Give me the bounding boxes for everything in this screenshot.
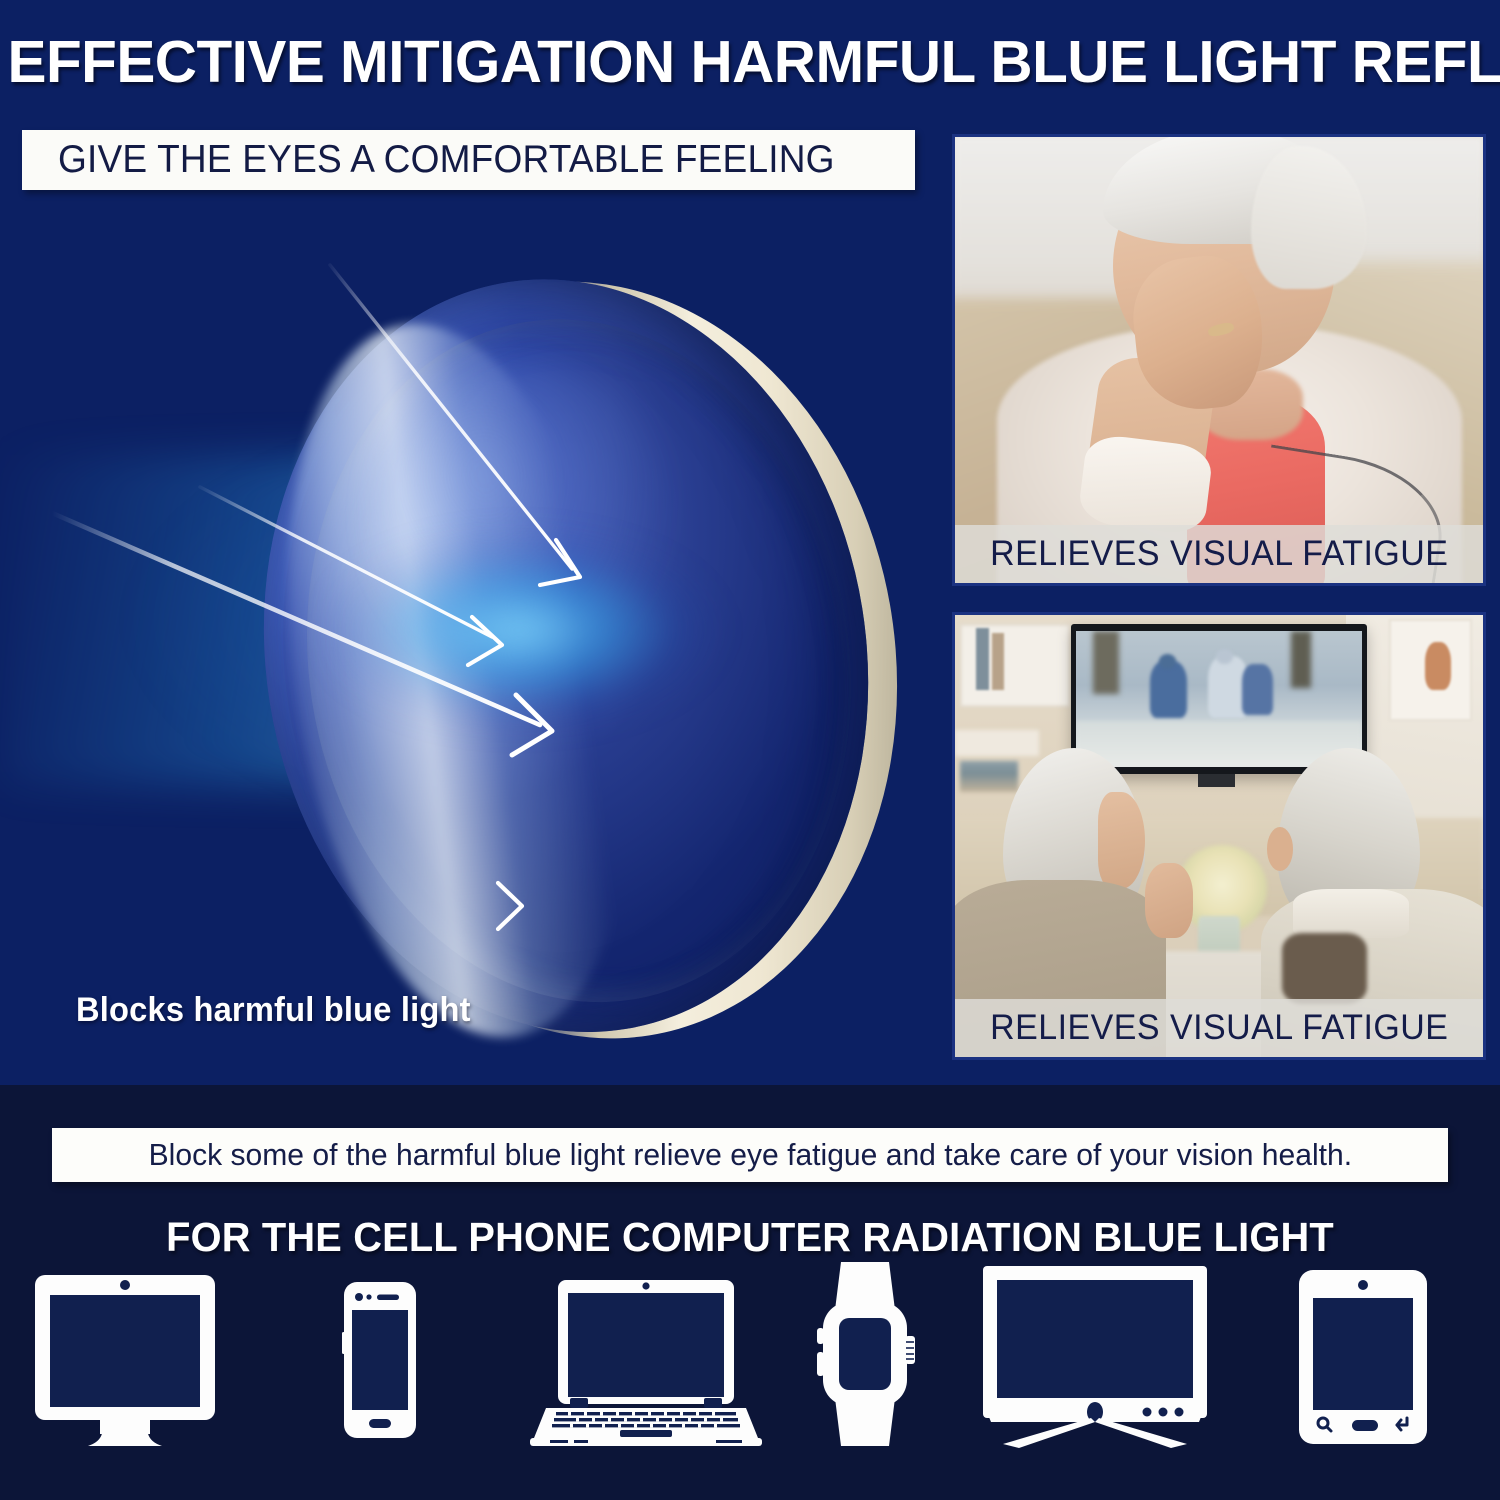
- photo-image-woman-rubbing-eyes: [955, 137, 1483, 583]
- photo-caption-text: RELIEVES VISUAL FATIGUE: [990, 534, 1448, 574]
- photo-card-fatigue-woman: RELIEVES VISUAL FATIGUE: [952, 134, 1486, 586]
- light-ray-1: [330, 265, 580, 585]
- laptop-icon: [530, 1276, 762, 1448]
- light-rays: [0, 225, 940, 1085]
- photo-caption-text: RELIEVES VISUAL FATIGUE: [990, 1008, 1448, 1048]
- subtitle-banner: GIVE THE EYES A COMFORTABLE FEELING: [22, 130, 915, 190]
- photo-caption-band: RELIEVES VISUAL FATIGUE: [955, 999, 1483, 1057]
- infographic-page: EFFECTIVE MITIGATION HARMFUL BLUE LIGHT …: [0, 0, 1500, 1500]
- photo-card-couple-tv: RELIEVES VISUAL FATIGUE: [952, 612, 1486, 1060]
- benefit-banner-text: Block some of the harmful blue light rel…: [148, 1137, 1351, 1173]
- lens-illustration: Blocks harmful blue light: [0, 225, 940, 1085]
- subtitle-text: GIVE THE EYES A COMFORTABLE FEELING: [58, 138, 835, 182]
- light-ray-3: [52, 513, 552, 755]
- smartwatch-icon: [805, 1258, 925, 1450]
- page-title: EFFECTIVE MITIGATION HARMFUL BLUE LIGHT …: [8, 28, 1493, 96]
- smartphone-icon: [340, 1280, 420, 1440]
- device-icon-row: [0, 1278, 1500, 1478]
- desktop-monitor-icon: [30, 1270, 220, 1450]
- devices-subhead: FOR THE CELL PHONE COMPUTER RADIATION BL…: [23, 1214, 1478, 1261]
- tablet-icon: [1295, 1268, 1431, 1446]
- lens-caption: Blocks harmful blue light: [76, 991, 471, 1030]
- light-ray-4: [140, 883, 522, 929]
- photo-image-couple-watching-tv: [955, 615, 1483, 1057]
- light-ray-2: [200, 487, 502, 665]
- photo-caption-band: RELIEVES VISUAL FATIGUE: [955, 525, 1483, 583]
- television-icon: [975, 1262, 1215, 1450]
- benefit-banner: Block some of the harmful blue light rel…: [52, 1128, 1448, 1182]
